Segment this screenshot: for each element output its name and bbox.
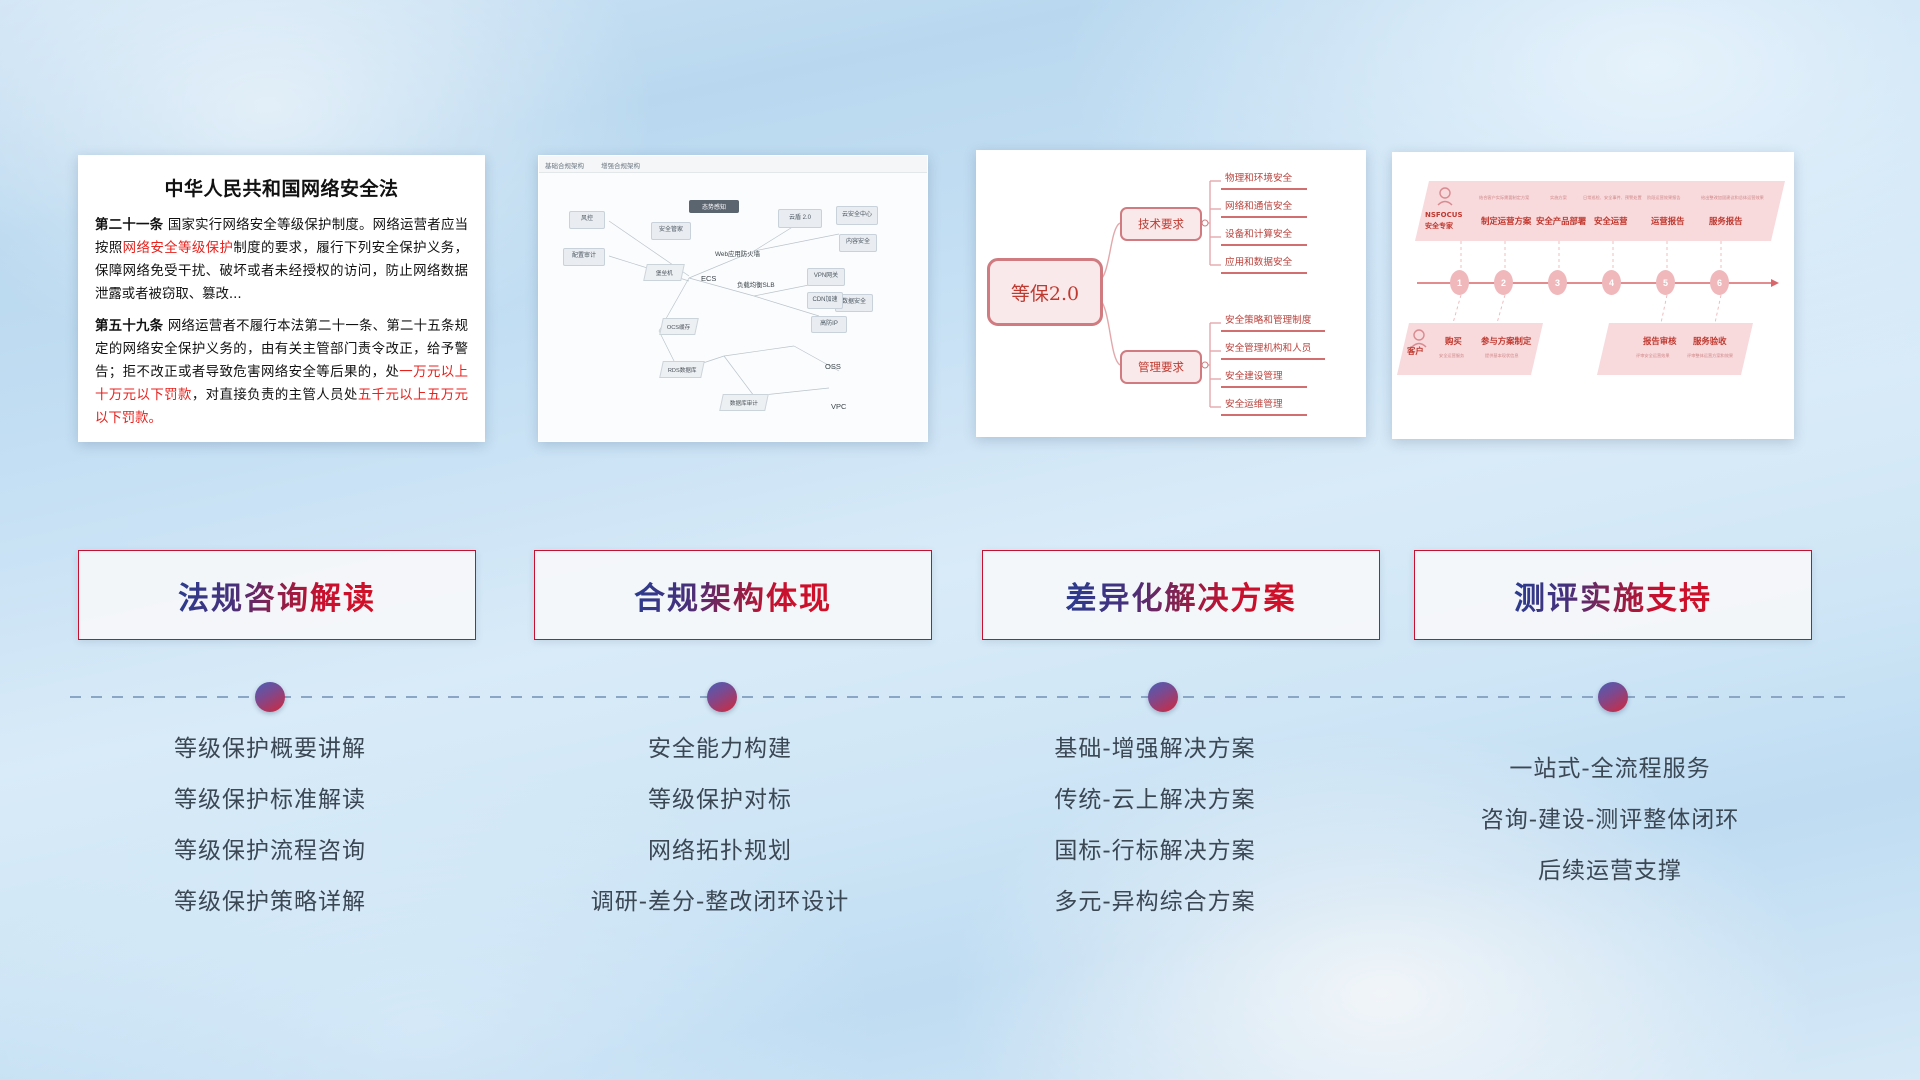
arch-label-ecs: ECS [701, 274, 716, 283]
roadmap-top-sml-5: 给出整改加固建议和总体运营效果 [1701, 195, 1764, 201]
label-box-compliance-architecture[interactable]: 合规架构体现 [534, 550, 932, 640]
detail-item: 咨询-建设-测评整体闭环 [1400, 809, 1820, 832]
detail-item: 等级保护对标 [510, 789, 930, 812]
roadmap-bottom-band-right [1597, 323, 1753, 375]
arch-label-vpc: VPC [831, 402, 846, 411]
article-59-label: 第五十九条 [95, 319, 163, 334]
timeline-dot-3[interactable] [1148, 682, 1178, 712]
timeline-dot-1[interactable] [255, 682, 285, 712]
roadmap-actor-nsfocus-line2: 安全专家 [1425, 221, 1453, 231]
mindmap-leaf-t2: 网络和通信安全 [1225, 198, 1292, 212]
roadmap-step-number-6: 6 [1710, 270, 1729, 295]
detail-item: 等级保护标准解读 [60, 789, 480, 812]
arch-node-yunanquan: 云安全中心 [836, 206, 878, 225]
roadmap-bottom-big-1: 购买 [1445, 335, 1462, 347]
roadmap-top-sml-1: 结合客户实际需要制定方案 [1479, 195, 1529, 201]
label-text-2: 合规架构体现 [634, 573, 832, 618]
roadmap-top-big-5: 服务报告 [1709, 215, 1743, 227]
detail-item: 后续运营支撑 [1400, 860, 1820, 883]
arch-label-slb: 负载均衡SLB [737, 280, 775, 289]
article-59-text-b: ，对直接负责的主管人员处 [192, 388, 358, 403]
roadmap-top-big-1: 制定运营方案 [1481, 215, 1531, 227]
arch-node-ocs: OCS缓存 [659, 318, 699, 335]
detail-column-3: 基础-增强解决方案 传统-云上解决方案 国标-行标解决方案 多元-异构综合方案 [945, 738, 1365, 942]
roadmap-bottom-sml-1: 安全运营服务 [1439, 353, 1464, 359]
roadmap-actor-nsfocus-line1: NSFOCUS [1425, 211, 1463, 219]
roadmap-top-sml-4: 阶段运营效果报告 [1647, 195, 1681, 201]
roadmap-step-number-4: 4 [1602, 270, 1621, 295]
card-cybersecurity-law[interactable]: 中华人民共和国网络安全法 第二十一条 国家实行网络安全等级保护制度。网络运营者应… [78, 155, 485, 442]
law-text-body: 中华人民共和国网络安全法 第二十一条 国家实行网络安全等级保护制度。网络运营者应… [79, 156, 484, 441]
arch-node-vpngateway: VPN网关 [807, 268, 845, 286]
roadmap-top-big-4: 运营报告 [1651, 215, 1685, 227]
mindmap-leaf-t1: 物理和环境安全 [1225, 170, 1292, 184]
mindmap-leaf-m1: 安全策略和管理制度 [1225, 312, 1311, 326]
card-compliance-architecture[interactable]: 基础合规架构 增强合规架构 态势感知 风控 [538, 155, 928, 442]
arch-node-cdn: CDN加速 [807, 292, 843, 309]
mindmap-leaf-m2: 安全管理机构和人员 [1225, 340, 1311, 354]
label-box-assessment-support[interactable]: 测评实施支持 [1414, 550, 1812, 640]
mindmap-branch-management: 管理要求 [1120, 350, 1202, 384]
timeline-dashed-line [70, 696, 1850, 698]
roadmap-top-big-2: 安全产品部署 [1536, 215, 1586, 227]
detail-item: 传统-云上解决方案 [945, 789, 1365, 812]
arch-node-fengkong: 风控 [569, 211, 605, 229]
label-box-differentiated-solution[interactable]: 差异化解决方案 [982, 550, 1380, 640]
timeline-dot-2[interactable] [707, 682, 737, 712]
detail-item: 调研-差分-整改闭环设计 [510, 891, 930, 914]
label-text-4: 测评实施支持 [1514, 573, 1712, 618]
article-21-label: 第二十一条 [95, 218, 163, 233]
arch-node-peizhishenji: 配置审计 [563, 248, 605, 266]
article-21-highlight: 网络安全等级保护 [123, 241, 234, 256]
detail-column-2: 安全能力构建 等级保护对标 网络拓扑规划 调研-差分-整改闭环设计 [510, 738, 930, 942]
roadmap-top-band [1415, 181, 1785, 241]
label-text-1: 法规咨询解读 [178, 573, 376, 618]
arch-node-dark-center: 态势感知 [689, 200, 739, 213]
label-text-3: 差异化解决方案 [1066, 573, 1297, 618]
detail-item: 国标-行标解决方案 [945, 840, 1365, 863]
roadmap-bottom-sml-3: 评审安全运营效果 [1636, 353, 1670, 359]
roadmap-actor-customer: 客户 [1407, 345, 1424, 357]
arch-node-baoleiji: 堡垒机 [643, 264, 685, 281]
law-title: 中华人民共和国网络安全法 [95, 174, 468, 201]
roadmap-step-number-2: 2 [1494, 270, 1513, 295]
roadmap-diagram: 1 2 3 4 5 6 NSFOCUS 安全专家 客户 结合客户实际需要制定方案… [1393, 153, 1793, 438]
timeline-dot-4[interactable] [1598, 682, 1628, 712]
roadmap-bottom-sml-4: 评审整体运营方案和效果 [1687, 353, 1733, 359]
law-article-59: 第五十九条 网络运营者不履行本法第二十一条、第二十五条规定的网络安全保护义务的，… [95, 315, 468, 430]
architecture-diagram: 基础合规架构 增强合规架构 态势感知 风控 [539, 156, 927, 441]
detail-item: 等级保护策略详解 [60, 891, 480, 914]
arch-node-gaofang: 高防IP [811, 316, 847, 333]
slide-canvas: 中华人民共和国网络安全法 第二十一条 国家实行网络安全等级保护制度。网络运营者应… [0, 0, 1920, 1080]
detail-item: 安全能力构建 [510, 738, 930, 761]
roadmap-bottom-big-4: 服务验收 [1693, 335, 1727, 347]
mindmap-leaf-t3: 设备和计算安全 [1225, 226, 1292, 240]
mindmap-root-node: 等保2.0 [987, 258, 1103, 326]
law-article-21: 第二十一条 国家实行网络安全等级保护制度。网络运营者应当按照网络安全等级保护制度… [95, 214, 468, 306]
roadmap-step-number-3: 3 [1548, 270, 1567, 295]
roadmap-top-sml-3: 日常巡检、安全事件、预警处置 [1583, 195, 1642, 201]
card-dengbao-mindmap[interactable]: 等保2.0 技术要求 管理要求 物理和环境安全 网络和通信安全 设备和计算安全 … [976, 150, 1366, 437]
arch-label-oss: OSS [825, 362, 841, 371]
mindmap-leaf-t4: 应用和数据安全 [1225, 254, 1292, 268]
roadmap-top-sml-2: 实施方案 [1550, 195, 1567, 201]
detail-column-4: 一站式-全流程服务 咨询-建设-测评整体闭环 后续运营支撑 [1400, 758, 1820, 911]
roadmap-step-number-5: 5 [1656, 270, 1675, 295]
mindmap-diagram: 等保2.0 技术要求 管理要求 物理和环境安全 网络和通信安全 设备和计算安全 … [977, 151, 1365, 436]
detail-item: 一站式-全流程服务 [1400, 758, 1820, 781]
roadmap-top-big-3: 安全运营 [1594, 215, 1628, 227]
arch-label-waf: Web应用防火墙 [715, 249, 760, 258]
detail-item: 网络拓扑规划 [510, 840, 930, 863]
top-card-row: 中华人民共和国网络安全法 第二十一条 国家实行网络安全等级保护制度。网络运营者应… [0, 0, 1920, 440]
roadmap-bottom-big-3: 报告审核 [1643, 335, 1677, 347]
detail-item: 等级保护概要讲解 [60, 738, 480, 761]
detail-item: 等级保护流程咨询 [60, 840, 480, 863]
arch-node-neirong: 内容安全 [839, 234, 877, 252]
roadmap-bottom-big-2: 参与方案制定 [1481, 335, 1531, 347]
mindmap-leaf-m3: 安全建设管理 [1225, 368, 1283, 382]
arch-node-yunshield: 云盾 2.0 [778, 209, 822, 228]
roadmap-bottom-sml-2: 提供基本现状信息 [1485, 353, 1519, 359]
arch-node-dbaudit: 数据库审计 [719, 394, 769, 411]
detail-item: 多元-异构综合方案 [945, 891, 1365, 914]
mindmap-branch-technical: 技术要求 [1120, 207, 1202, 241]
arch-node-rds: RDS数据库 [659, 361, 705, 378]
card-nsfocus-roadmap[interactable]: 1 2 3 4 5 6 NSFOCUS 安全专家 客户 结合客户实际需要制定方案… [1392, 152, 1794, 439]
detail-item: 基础-增强解决方案 [945, 738, 1365, 761]
mindmap-leaf-m4: 安全运维管理 [1225, 396, 1283, 410]
roadmap-step-number-1: 1 [1450, 270, 1469, 295]
label-box-regulation-consulting[interactable]: 法规咨询解读 [78, 550, 476, 640]
arch-node-anquanguanjia: 安全管家 [651, 222, 691, 240]
detail-column-1: 等级保护概要讲解 等级保护标准解读 等级保护流程咨询 等级保护策略详解 [60, 738, 480, 942]
